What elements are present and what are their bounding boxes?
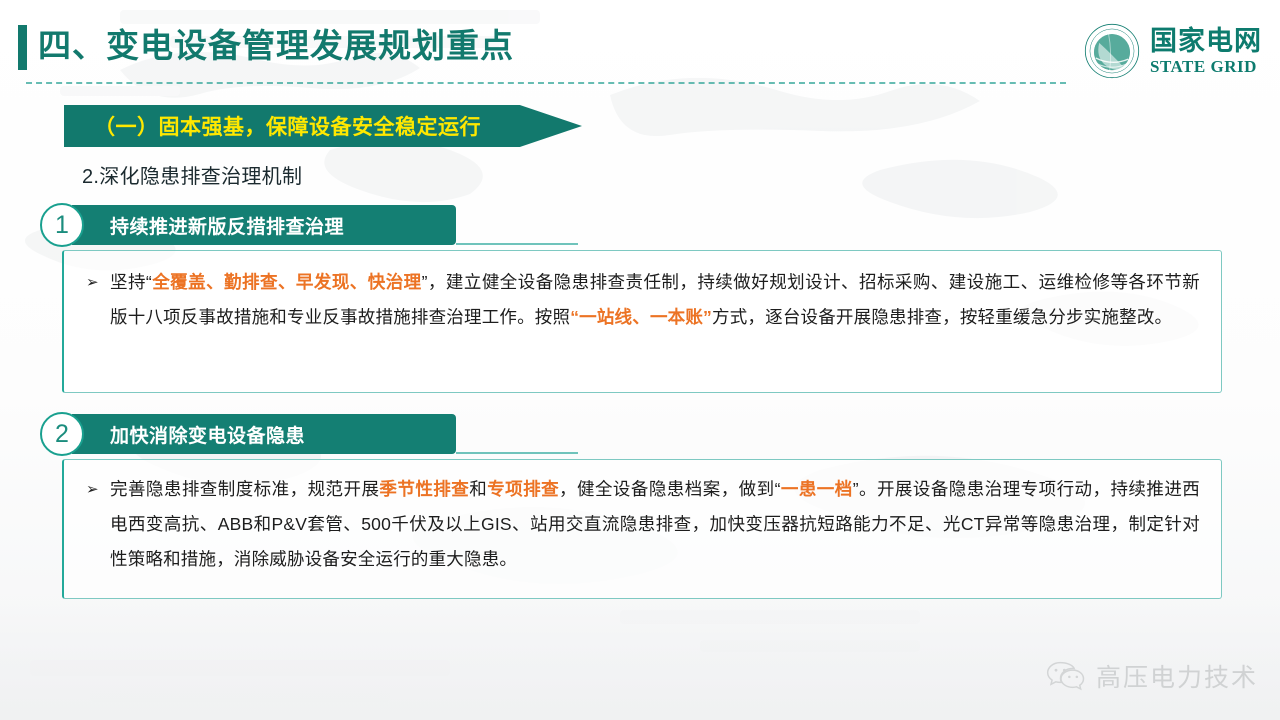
block-1-content-box: ➢ 坚持“全覆盖、勤排查、早发现、快治理”，建立健全设备隐患排查责任制，持续做好…	[62, 250, 1222, 393]
text-run: 专项排查	[487, 479, 559, 499]
block-1-bar: 持续推进新版反措排查治理	[72, 205, 456, 245]
text-run: 坚持“	[110, 272, 152, 292]
block-2-paragraph: 完善隐患排查制度标准，规范开展季节性排查和专项排查，健全设备隐患档案，做到“一患…	[110, 472, 1200, 577]
text-run: 方式，逐台设备开展隐患排查，按轻重缓急分步实施整改。	[712, 307, 1172, 327]
wechat-icon	[1046, 659, 1086, 693]
slide-header: 四、变电设备管理发展规划重点 国家电网 STATE GRID	[0, 0, 1280, 92]
block-2-number: 2	[55, 420, 69, 449]
channel-watermark: 高压电力技术	[1046, 658, 1258, 694]
page-title: 四、变电设备管理发展规划重点	[38, 22, 514, 70]
block-2-content-box: ➢ 完善隐患排查制度标准，规范开展季节性排查和专项排查，健全设备隐患档案，做到“…	[62, 459, 1222, 599]
block-2-bullet-icon: ➢	[86, 472, 99, 507]
block-1-number: 1	[55, 211, 69, 240]
watermark-label: 高压电力技术	[1096, 658, 1258, 694]
block-1-paragraph: 坚持“全覆盖、勤排查、早发现、快治理”，建立健全设备隐患排查责任制，持续做好规划…	[110, 265, 1200, 335]
text-run: ，健全设备隐患档案，做到“	[559, 479, 781, 499]
sub-heading: 2.深化隐患排查治理机制	[82, 160, 302, 189]
state-grid-globe-logo	[1083, 22, 1141, 80]
text-run: 一患一档	[781, 479, 853, 499]
text-run: 季节性排查	[379, 479, 469, 499]
header-divider	[26, 82, 1066, 84]
text-run: “一站线、一本账”	[570, 307, 712, 327]
logo-text-en: STATE GRID	[1150, 58, 1262, 75]
block-1-number-badge: 1	[40, 203, 84, 247]
block-1-bullet-icon: ➢	[86, 265, 99, 300]
block-2-bar-tail	[456, 452, 578, 454]
block-1-bar-tail	[456, 243, 578, 245]
slide-canvas: 四、变电设备管理发展规划重点 国家电网 STATE GRID （一）固本强基，保…	[0, 0, 1280, 720]
text-run: 全覆盖、勤排查、早发现、快治理	[152, 272, 422, 292]
text-run: 完善隐患排查制度标准，规范开展	[110, 479, 379, 499]
section-banner: （一）固本强基，保障设备安全稳定运行	[64, 105, 582, 147]
block-2-bar-label: 加快消除变电设备隐患	[72, 421, 305, 448]
logo-text-cn: 国家电网	[1150, 28, 1262, 55]
title-accent-bar	[18, 25, 27, 70]
text-run: 和	[469, 479, 487, 499]
state-grid-logo: 国家电网 STATE GRID	[1083, 22, 1262, 80]
section-banner-label: （一）固本强基，保障设备安全稳定运行	[64, 111, 481, 141]
block-1-bar-label: 持续推进新版反措排查治理	[72, 212, 344, 239]
block-2-bar: 加快消除变电设备隐患	[72, 414, 456, 454]
block-2-number-badge: 2	[40, 412, 84, 456]
